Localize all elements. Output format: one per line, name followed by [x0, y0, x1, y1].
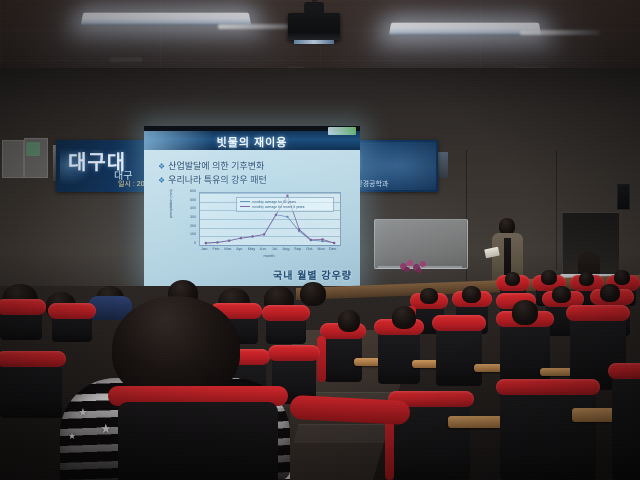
chart-x-tick-label: Jan. [201, 246, 209, 251]
slide-bullet-2: ❖우리나라 특유의 강우 패턴 [158, 173, 267, 186]
seat-armrest [448, 416, 504, 428]
chart-x-tick-label: Jun. [259, 246, 267, 251]
seat-headrest [496, 379, 600, 395]
auditorium-seat[interactable] [324, 330, 362, 382]
wall-poster-graphic [26, 142, 40, 156]
chart-data-point [228, 240, 230, 242]
chart-x-tick-label: Apr. [236, 246, 243, 251]
chart-data-point [217, 242, 219, 244]
chart-x-tick-label: Mar. [224, 246, 232, 251]
star-pattern-icon: ★ [68, 432, 76, 441]
wall-seam [556, 150, 557, 270]
seated-audience-member [462, 286, 481, 303]
flower-petal [407, 260, 413, 266]
seated-audience-member [552, 286, 571, 303]
chart-data-point [240, 237, 242, 239]
slide-title: 빗물의 재이용 [144, 134, 360, 150]
seat-headrest [0, 299, 46, 315]
bullet-marker-icon: ❖ [158, 162, 165, 171]
chart-data-point [333, 242, 335, 244]
seated-audience-member [338, 310, 360, 332]
chart-legend-entry-0: monthly average for 30 years [240, 200, 296, 204]
chart-data-point [322, 240, 324, 242]
seated-audience-member [541, 270, 557, 285]
chart-y-tick-label: 100 [182, 233, 196, 237]
chart-data-point [298, 228, 300, 230]
seated-audience-member [392, 306, 416, 329]
seat-headrest [0, 351, 66, 367]
wall-speaker [617, 184, 630, 210]
seated-audience-member [300, 282, 326, 306]
chart-x-tick-label: May [248, 246, 256, 251]
chart-y-tick-label: 500 [182, 199, 196, 203]
chart-x-tick-label: Dec. [329, 246, 337, 251]
auditorium-seat[interactable] [612, 370, 640, 480]
chart-legend: monthly average for 30 years monthly ave… [236, 197, 334, 212]
chart-x-tick-label: Jul. [272, 246, 278, 251]
chart-x-tick-label: Aug. [282, 246, 290, 251]
seat-back [612, 370, 640, 480]
chart-legend-label-1: monthly average for recent 5 years [252, 205, 304, 209]
chart-data-point [263, 234, 265, 236]
ceiling-vent [108, 56, 144, 63]
chart-y-tick-label: 600 [182, 190, 196, 194]
seat-back [436, 322, 482, 386]
seat-armrest [540, 368, 574, 376]
chart-plot-area: monthly average for 30 years monthly ave… [199, 192, 341, 246]
star-pattern-icon: ★ [100, 422, 112, 435]
seated-audience-member [600, 284, 620, 302]
bullet-marker-icon: ❖ [158, 176, 165, 185]
auditorium-seat[interactable] [118, 402, 278, 480]
seated-audience-member [579, 272, 594, 286]
seated-audience-member [420, 288, 438, 304]
slide-caption: 국내 월별 강우량 [273, 267, 352, 282]
seat-headrest [566, 305, 630, 321]
ceiling-projector [288, 13, 340, 40]
chart-y-tick-label: 400 [182, 207, 196, 211]
chart-legend-label-0: monthly average for 30 years [252, 200, 296, 204]
slide-bullet-1-text: 산업발달에 의한 기후변화 [168, 161, 264, 171]
auditorium-seat[interactable] [500, 386, 596, 480]
chart-data-point [287, 216, 289, 218]
chart-x-tick-label: Nov. [318, 246, 326, 251]
legend-swatch-icon [240, 206, 250, 207]
auditorium-seat[interactable] [0, 306, 42, 340]
foreground-person-head [112, 296, 240, 400]
slide-bullet-1: ❖산업발달에 의한 기후변화 [158, 159, 264, 172]
auditorium-photo: 대구대 발표회 대구 발표회 일시 : 2009. 11. 20 대구대학교 환… [0, 0, 640, 480]
rainfall-line-chart: precipitation (mm) monthly average for 3… [170, 190, 348, 262]
seated-audience-member [505, 272, 520, 286]
chart-x-tick-label: Oct. [306, 246, 313, 251]
slide-bullet-2-text: 우리나라 특유의 강우 패턴 [168, 175, 267, 185]
chart-y-axis-title: precipitation (mm) [169, 189, 173, 218]
chart-y-tick-label: 200 [182, 225, 196, 229]
seat-back [500, 386, 596, 480]
seat-side-panel [317, 336, 326, 382]
chart-x-tick-label: Sep. [294, 246, 302, 251]
seat-headrest [608, 363, 640, 379]
chart-data-point [205, 242, 207, 244]
chart-x-tick-label: Feb. [212, 246, 220, 251]
chart-data-point [275, 214, 277, 216]
fluorescent-light-right-glow [520, 30, 600, 35]
flower-petal [416, 268, 422, 273]
chart-data-point [322, 238, 324, 240]
chart-x-axis-title: month [263, 253, 274, 258]
auditorium-seat[interactable] [436, 322, 482, 386]
seat-back [500, 318, 550, 388]
chart-data-point [252, 235, 254, 237]
chart-data-point [310, 239, 312, 241]
chart-legend-entry-1: monthly average for recent 5 years [240, 205, 304, 209]
wall-poster [2, 140, 24, 178]
flower-arrangement [398, 259, 430, 273]
chart-series-line [206, 215, 334, 243]
seated-audience-member [614, 270, 630, 285]
chart-y-tick-label: 0 [182, 242, 196, 246]
seat-headrest [432, 315, 486, 331]
auditorium-seat[interactable] [378, 326, 420, 384]
flower-petal [404, 267, 410, 272]
projection-screen: 빗물의 재이용 ❖산업발달에 의한 기후변화 ❖우리나라 특유의 강우 패턴 p… [144, 126, 360, 289]
chart-y-tick-label: 300 [182, 216, 196, 220]
auditorium-seat[interactable] [0, 358, 62, 418]
star-pattern-icon: ★ [78, 408, 88, 419]
flower-petal [420, 261, 426, 267]
fluorescent-light-right [389, 23, 541, 36]
seat-back [0, 358, 62, 418]
auditorium-seat[interactable] [500, 318, 550, 388]
seated-audience-member [512, 300, 538, 325]
legend-swatch-icon [240, 201, 250, 202]
